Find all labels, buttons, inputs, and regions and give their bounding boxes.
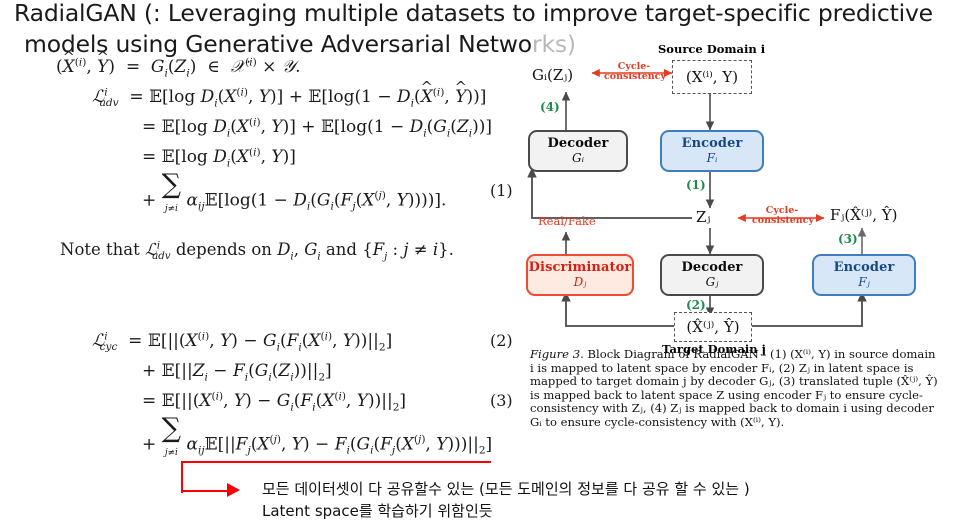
equation-number-2: (2): [490, 326, 513, 356]
figure-caption: Figure 3. Block Diagram of RadialGAN - (…: [530, 348, 942, 430]
real-fake-label: Real/Fake: [538, 214, 596, 228]
figure-number: Figure 3.: [530, 347, 584, 361]
fj-hat-label: Fⱼ(X̂⁽ʲ⁾, Ŷ): [830, 206, 898, 224]
encoder-fi-sub: Fᵢ: [707, 152, 718, 165]
annotation-pointer-vertical: [181, 461, 183, 493]
cycle-consistency-label-mid: Cycle- consistency: [752, 206, 812, 226]
annotation-pointer-horizontal: [181, 461, 491, 463]
title-line-1: RadialGAN (: Leveraging multiple dataset…: [14, 0, 933, 27]
radialgan-block-diagram: Source Domain i (X⁽ⁱ⁾, Y) Gᵢ(Zⱼ) Cycle- …: [524, 42, 960, 342]
figure-caption-text: Block Diagram of RadialGAN - (1) (X⁽ⁱ⁾, …: [530, 347, 938, 429]
annotation-arrow-head-icon: [227, 483, 240, 497]
annotation-line-2: Latent space를 학습하기 위함인듯: [262, 500, 902, 522]
decoder-gj-title: Decoder: [681, 261, 742, 276]
encoder-fj-sub: Fⱼ: [858, 276, 870, 289]
target-tuple-box: (X̂⁽ʲ⁾, Ŷ): [674, 312, 752, 342]
gi-zj-label: Gᵢ(Zⱼ): [532, 66, 573, 84]
decoder-gi-sub: Gᵢ: [572, 152, 584, 165]
decoder-gj-sub: Gⱼ: [706, 276, 719, 289]
zj-label: Zⱼ: [696, 208, 710, 226]
discriminator-dj-sub: Dⱼ: [574, 276, 587, 289]
source-tuple-text: (X⁽ⁱ⁾, Y): [686, 68, 738, 86]
summation-symbol: ∑j≠i: [162, 174, 181, 224]
source-tuple-box: (X⁽ⁱ⁾, Y): [672, 60, 752, 94]
encoder-fi-node[interactable]: Encoder Fᵢ: [660, 130, 764, 172]
note-adversarial-dependency: Note that ℒiadv depends on Di, Gi and {F…: [60, 240, 454, 259]
annotation-pointer-bottom: [181, 490, 229, 492]
encoder-fi-title: Encoder: [682, 137, 743, 152]
korean-annotation: 모든 데이터셋이 다 공유할수 있는 (모든 도메인의 정보를 다 공유 할 수…: [262, 478, 902, 522]
decoder-gi-node[interactable]: Decoder Gᵢ: [528, 130, 628, 172]
annotation-line-1: 모든 데이터셋이 다 공유할수 있는 (모든 도메인의 정보를 다 공유 할 수…: [262, 478, 902, 500]
step-label-4: (4): [540, 100, 560, 114]
decoder-gi-title: Decoder: [547, 137, 608, 152]
equation-number-3: (3): [490, 386, 513, 416]
discriminator-dj-title: Discriminator: [529, 261, 632, 276]
step-label-1: (1): [686, 178, 706, 192]
encoder-fj-title: Encoder: [834, 261, 895, 276]
step-label-2: (2): [686, 298, 706, 312]
equation-number-1: (1): [490, 176, 513, 206]
summation-symbol: ∑j≠i: [162, 418, 181, 468]
decoder-gj-node[interactable]: Decoder Gⱼ: [660, 254, 764, 296]
source-domain-label: Source Domain i: [658, 42, 765, 56]
discriminator-dj-node[interactable]: Discriminator Dⱼ: [526, 254, 634, 296]
encoder-fj-node[interactable]: Encoder Fⱼ: [812, 254, 916, 296]
step-label-3: (3): [838, 232, 858, 246]
target-tuple-text: (X̂⁽ʲ⁾, Ŷ): [686, 318, 739, 336]
cycle-consistency-label-top: Cycle- consistency: [604, 62, 664, 82]
